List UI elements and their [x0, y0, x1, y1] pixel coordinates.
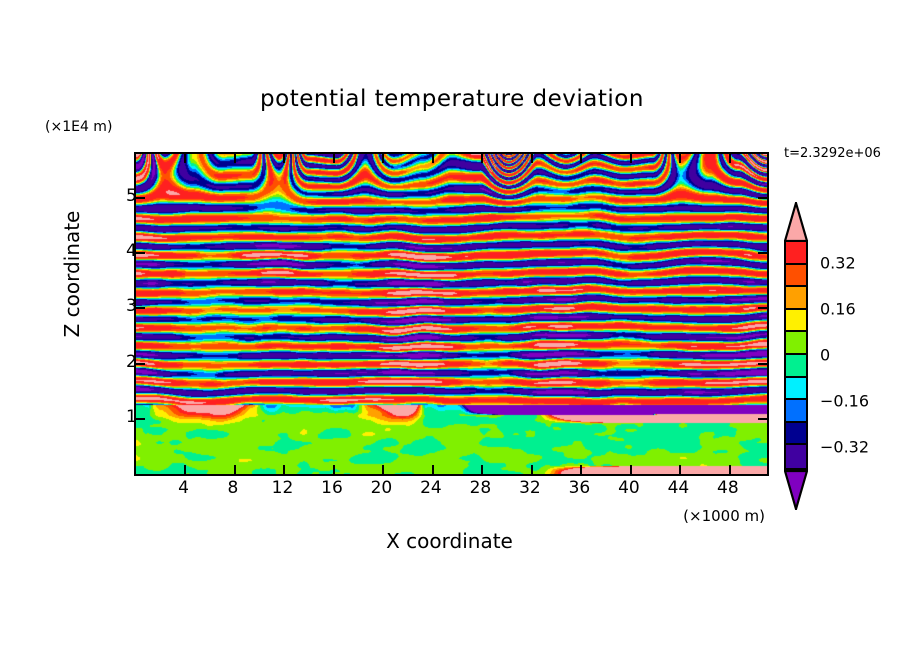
x-tick-mark — [382, 154, 384, 163]
x-tick-label: 28 — [470, 478, 492, 498]
colorbar-tick-label: −0.32 — [820, 438, 869, 457]
x-tick-mark — [580, 465, 582, 474]
x-tick-label: 44 — [668, 478, 690, 498]
colorbar: 0.320.160−0.16−0.32 — [784, 202, 808, 508]
x-tick-mark — [481, 465, 483, 474]
x-tick-mark — [679, 154, 681, 163]
y-tick-mark — [136, 418, 145, 420]
colorbar-band — [786, 423, 806, 446]
x-tick-mark — [729, 465, 731, 474]
contour-field — [136, 154, 767, 474]
plot-area — [134, 152, 769, 476]
x-tick-label: 20 — [371, 478, 393, 498]
colorbar-band — [786, 445, 806, 468]
x-tick-label: 40 — [618, 478, 640, 498]
colorbar-tick-label: 0 — [820, 346, 830, 365]
y-tick-label: 5 — [126, 186, 137, 206]
x-tick-mark — [184, 465, 186, 474]
y-tick-mark — [758, 252, 767, 254]
colorbar-band — [786, 355, 806, 378]
x-tick-label: 24 — [420, 478, 442, 498]
colorbar-top-arrow-icon — [784, 202, 808, 242]
colorbar-bands — [784, 240, 808, 470]
y-tick-mark — [136, 307, 145, 309]
x-tick-mark — [531, 465, 533, 474]
y-tick-mark — [758, 418, 767, 420]
x-tick-mark — [531, 154, 533, 163]
chart-title: potential temperature deviation — [0, 86, 904, 112]
x-tick-label: 36 — [569, 478, 591, 498]
x-tick-mark — [481, 154, 483, 163]
colorbar-band — [786, 400, 806, 423]
colorbar-band — [786, 310, 806, 333]
figure-canvas: potential temperature deviation (×1E4 m)… — [0, 0, 904, 654]
x-tick-mark — [432, 154, 434, 163]
x-tick-mark — [234, 154, 236, 163]
x-tick-mark — [679, 465, 681, 474]
x-tick-mark — [283, 154, 285, 163]
colorbar-band — [786, 378, 806, 401]
y-tick-label: 2 — [126, 352, 137, 372]
colorbar-band — [786, 287, 806, 310]
x-tick-mark — [283, 465, 285, 474]
time-annotation: t=2.3292e+06 — [784, 146, 881, 161]
x-tick-mark — [729, 154, 731, 163]
y-tick-mark — [758, 307, 767, 309]
x-axis-title: X coordinate — [134, 529, 765, 553]
y-tick-label: 4 — [126, 241, 137, 261]
y-axis-title: Z coordinate — [60, 184, 84, 364]
y-tick-label: 3 — [126, 296, 137, 316]
x-tick-mark — [234, 465, 236, 474]
colorbar-tick-label: −0.16 — [820, 392, 869, 411]
x-tick-label: 4 — [178, 478, 189, 498]
x-tick-mark — [333, 465, 335, 474]
x-tick-mark — [333, 154, 335, 163]
x-tick-label: 8 — [228, 478, 239, 498]
y-axis-unit-label: (×1E4 m) — [45, 119, 112, 135]
colorbar-band — [786, 332, 806, 355]
x-tick-mark — [184, 154, 186, 163]
x-tick-mark — [580, 154, 582, 163]
y-tick-mark — [136, 252, 145, 254]
x-tick-mark — [382, 465, 384, 474]
x-tick-mark — [432, 465, 434, 474]
x-tick-label: 48 — [717, 478, 739, 498]
x-tick-label: 16 — [321, 478, 343, 498]
colorbar-band — [786, 242, 806, 265]
y-tick-mark — [136, 197, 145, 199]
x-tick-mark — [630, 465, 632, 474]
colorbar-tick-label: 0.32 — [820, 254, 856, 273]
colorbar-band — [786, 265, 806, 288]
y-tick-label: 1 — [126, 407, 137, 427]
colorbar-bottom-arrow-icon — [784, 470, 808, 510]
y-tick-mark — [758, 197, 767, 199]
y-tick-mark — [136, 363, 145, 365]
x-tick-label: 12 — [272, 478, 294, 498]
x-tick-label: 32 — [519, 478, 541, 498]
x-axis-unit-label: (×1000 m) — [683, 507, 765, 525]
y-tick-mark — [758, 363, 767, 365]
colorbar-tick-label: 0.16 — [820, 300, 856, 319]
x-tick-mark — [630, 154, 632, 163]
